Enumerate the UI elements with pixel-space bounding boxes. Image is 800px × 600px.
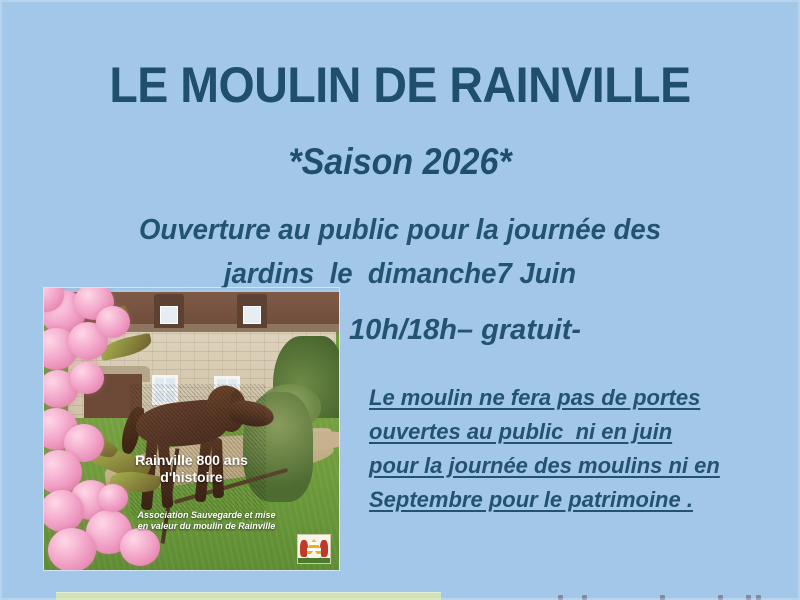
opening-line-2: jardins le dimanche7 Juin	[20, 258, 780, 291]
closure-notice-line-2: ouvertes au public ni en juin	[369, 415, 769, 449]
closure-notice: Le moulin ne fera pas de portes ouvertes…	[369, 381, 769, 517]
association-line-1: Association Sauvegarde et mise	[74, 510, 339, 521]
opening-line-1: Ouverture au public pour la journée des	[20, 214, 780, 247]
bottom-cutoff-band	[56, 592, 441, 600]
rainville-photo: Rainville 800 ans d'histoire Association…	[44, 288, 339, 570]
photo-caption-line-1: Rainville 800 ans	[44, 452, 339, 469]
crest-chevron	[307, 539, 321, 559]
crest-lion-left	[300, 540, 308, 557]
crest-base	[298, 558, 330, 563]
dormer-window-right	[237, 294, 267, 328]
association-line-2: en valeur du moulin de Rainville	[74, 521, 339, 532]
closure-notice-line-1: Le moulin ne fera pas de portes	[369, 381, 769, 415]
closure-notice-line-3: pour la journée des moulins ni en	[369, 449, 769, 483]
page-title: LE MOULIN DE RAINVILLE	[28, 56, 772, 114]
photo-caption-line-2: d'histoire	[44, 469, 339, 486]
bottom-cutoff-marks	[540, 594, 780, 600]
coat-of-arms-icon	[297, 534, 331, 564]
season-subtitle: *Saison 2026*	[32, 141, 768, 183]
closure-notice-line-4: Septembre pour le patrimoine .	[369, 483, 769, 517]
poster-canvas: LE MOULIN DE RAINVILLE *Saison 2026* Ouv…	[0, 0, 800, 600]
photo-caption: Rainville 800 ans d'histoire	[44, 452, 339, 486]
hours-line: 10h/18h– gratuit-	[349, 314, 581, 347]
association-credit: Association Sauvegarde et mise en valeur…	[44, 510, 339, 532]
crest-lion-right	[320, 540, 328, 557]
